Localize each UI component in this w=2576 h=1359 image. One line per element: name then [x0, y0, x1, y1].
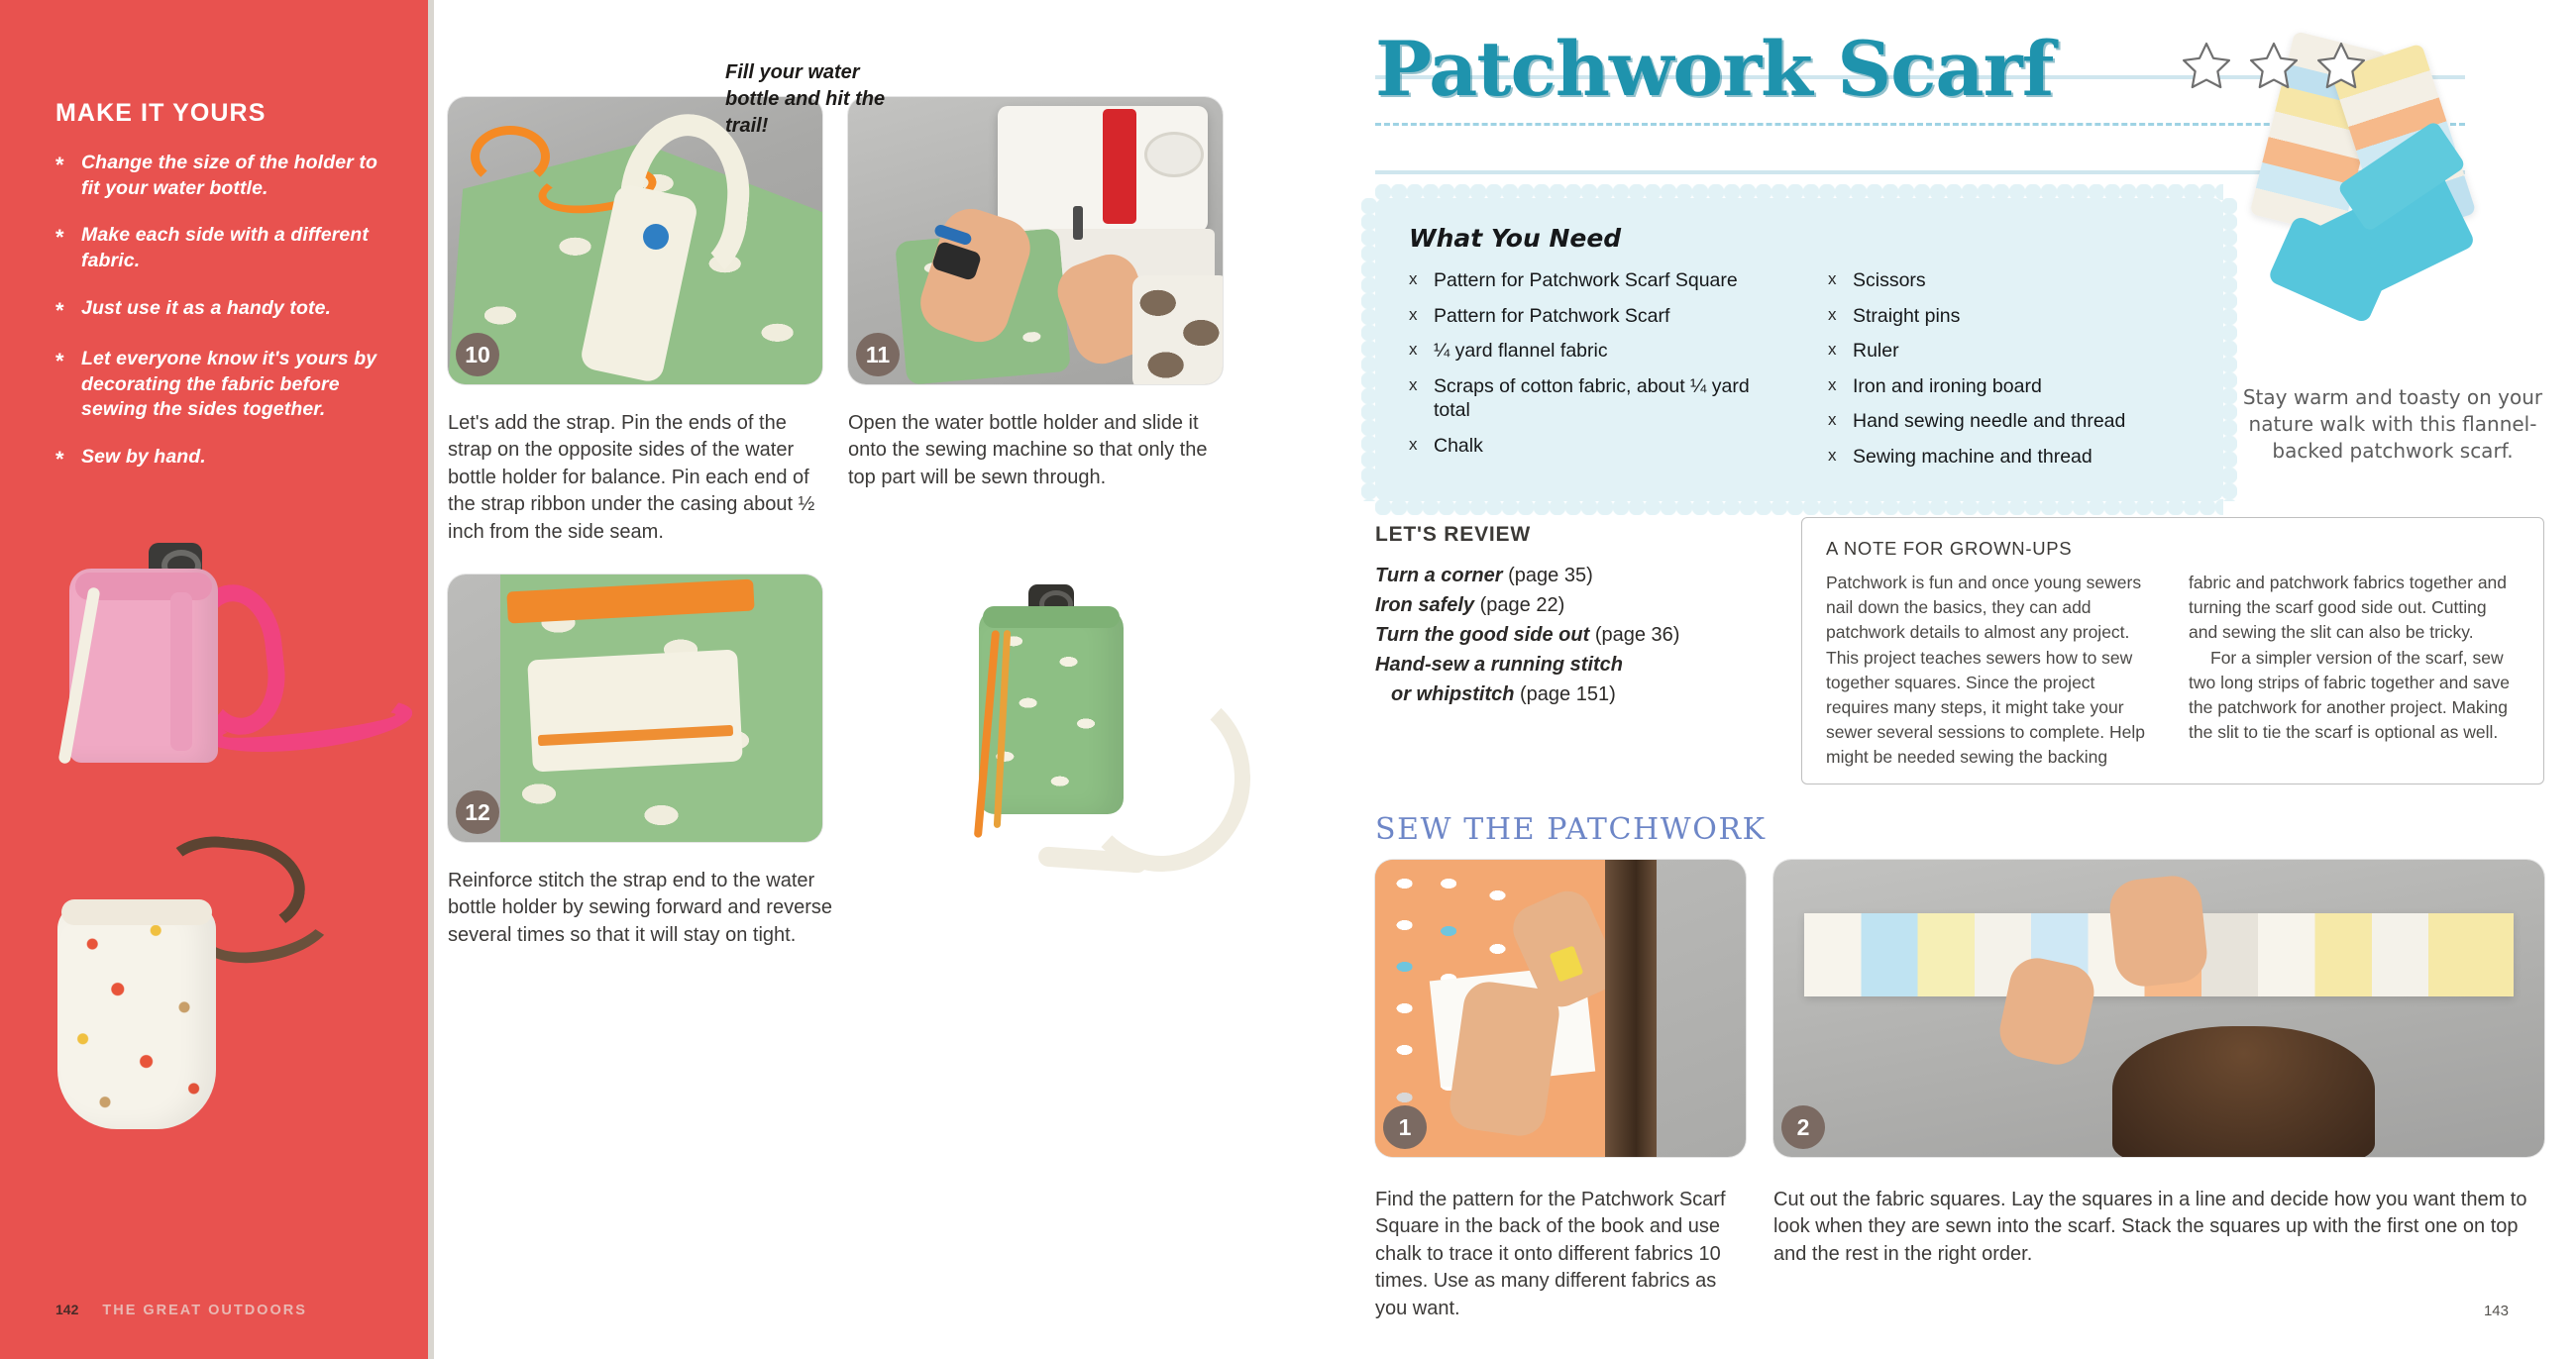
x-marker-icon: x: [1828, 409, 1840, 434]
supplies-column-left: x Pattern for Patchwork Scarf Square x P…: [1409, 268, 1771, 479]
review-item: Turn a corner (page 35): [1375, 561, 1771, 590]
left-page-content: 10 11 Let's add the strap. Pin the ends …: [448, 0, 1308, 1359]
step-badge: 1: [1383, 1105, 1427, 1149]
finished-bottle-holder-illustration: [943, 584, 1340, 981]
x-marker-icon: x: [1409, 339, 1421, 364]
asterisk-icon: *: [55, 445, 81, 473]
supply-label: Hand sewing needle and thread: [1853, 409, 2125, 434]
list-item-label: Change the size of the holder to fit you…: [81, 151, 382, 201]
difficulty-rating: [2178, 38, 2370, 95]
review-skill: Hand-sew a running stitch: [1375, 654, 1623, 676]
scarf-caption: Stay warm and toasty on your nature walk…: [2239, 384, 2546, 466]
lets-review-section: LET'S REVIEW Turn a corner (page 35) Iro…: [1375, 523, 1771, 709]
supply-item: x Scraps of cotton fabric, about ¼ yard …: [1409, 374, 1771, 423]
list-item-label: Sew by hand.: [81, 445, 206, 473]
patchwork-step-2-caption: Cut out the fabric squares. Lay the squa…: [1773, 1187, 2556, 1268]
page-number: 143: [2484, 1303, 2509, 1319]
grown-ups-paragraph: fabric and patchwork fabrics together an…: [2189, 571, 2520, 646]
supply-label: Pattern for Patchwork Scarf Square: [1434, 268, 1738, 293]
review-item: Turn the good side out (page 36): [1375, 620, 1771, 650]
scallop-edge-left: [1361, 198, 1377, 501]
section-name: THE GREAT OUTDOORS: [102, 1303, 307, 1318]
grown-ups-column-left: Patchwork is fun and once young sewers n…: [1826, 571, 2157, 771]
supply-label: Scraps of cotton fabric, about ¼ yard to…: [1434, 374, 1771, 423]
patchwork-step-1-caption: Find the pattern for the Patchwork Scarf…: [1375, 1187, 1752, 1322]
lets-review-heading: LET'S REVIEW: [1375, 523, 1771, 547]
sew-the-patchwork-heading: SEW THE PATCHWORK: [1375, 812, 1767, 847]
fill-your-bottle-note: Fill your water bottle and hit the trail…: [725, 59, 904, 139]
list-item: * Just use it as a handy tote.: [55, 296, 382, 325]
list-item-label: Make each side with a different fabric.: [81, 223, 382, 273]
review-page-ref: (page 36): [1595, 624, 1680, 646]
grown-ups-paragraph: For a simpler version of the scarf, sew …: [2189, 646, 2520, 746]
review-item: Hand-sew a running stitch or whipstitch …: [1375, 650, 1771, 709]
list-item-label: Just use it as a handy tote.: [81, 296, 331, 325]
review-page-ref: (page 151): [1520, 683, 1616, 705]
scallop-edge-bottom: [1375, 499, 2223, 515]
supply-item: x Hand sewing needle and thread: [1828, 409, 2190, 434]
page-number: 142: [55, 1302, 78, 1317]
list-item: * Let everyone know it's yours by decora…: [55, 347, 382, 423]
make-it-yours-list: * Change the size of the holder to fit y…: [55, 151, 382, 495]
panel-edge-divider: [428, 0, 434, 1359]
pink-bottle-holder-illustration: [52, 543, 309, 790]
left-page: MAKE IT YOURS * Change the size of the h…: [0, 0, 1308, 1359]
grown-ups-paragraph: Patchwork is fun and once young sewers n…: [1826, 571, 2157, 771]
supply-label: ¼ yard flannel fabric: [1434, 339, 1608, 364]
step-badge: 10: [456, 333, 499, 376]
x-marker-icon: x: [1828, 339, 1840, 364]
star-icon: [2178, 38, 2235, 95]
supply-item: x ¼ yard flannel fabric: [1409, 339, 1771, 364]
review-skill: Iron safely: [1375, 594, 1474, 616]
asterisk-icon: *: [55, 151, 81, 201]
book-spread: MAKE IT YOURS * Change the size of the h…: [0, 0, 2576, 1359]
asterisk-icon: *: [55, 347, 81, 423]
supply-label: Scissors: [1853, 268, 1926, 293]
supply-item: x Ruler: [1828, 339, 2190, 364]
step-badge: 2: [1781, 1105, 1825, 1149]
patchwork-step-2-photo: 2: [1773, 860, 2544, 1157]
right-page: Patchwork Scarf What You Need: [1308, 0, 2576, 1359]
review-skill: Turn the good side out: [1375, 624, 1589, 646]
supply-label: Ruler: [1853, 339, 1899, 364]
supply-label: Sewing machine and thread: [1853, 445, 2093, 470]
supply-item: x Straight pins: [1828, 304, 2190, 329]
what-you-need-box: What You Need x Pattern for Patchwork Sc…: [1375, 198, 2223, 501]
step-11-caption: Open the water bottle holder and slide i…: [848, 410, 1233, 491]
list-item: * Change the size of the holder to fit y…: [55, 151, 382, 201]
step-badge: 12: [456, 790, 499, 834]
list-item: * Sew by hand.: [55, 445, 382, 473]
star-icon: [2245, 38, 2303, 95]
make-it-yours-panel: MAKE IT YOURS * Change the size of the h…: [0, 0, 428, 1359]
x-marker-icon: x: [1828, 268, 1840, 293]
supply-label: Straight pins: [1853, 304, 1960, 329]
monkey-fabric-bag: [57, 903, 216, 1129]
note-for-grown-ups-box: A NOTE FOR GROWN-UPS Patchwork is fun an…: [1801, 517, 2544, 784]
review-page-ref: (page 22): [1480, 594, 1565, 616]
asterisk-icon: *: [55, 296, 81, 325]
step-12-photo: 12: [448, 575, 822, 842]
x-marker-icon: x: [1409, 268, 1421, 293]
step-10-photo: 10: [448, 97, 822, 384]
scallop-edge-top: [1375, 184, 2223, 200]
supply-label: Chalk: [1434, 434, 1483, 459]
x-marker-icon: x: [1409, 304, 1421, 329]
review-page-ref: (page 35): [1508, 565, 1593, 586]
pink-ruffle-trim: [170, 592, 192, 751]
patchwork-step-1-photo: 1: [1375, 860, 1746, 1157]
list-item: * Make each side with a different fabric…: [55, 223, 382, 273]
scallop-edge-right: [2221, 198, 2237, 501]
review-skill: Turn a corner: [1375, 565, 1503, 586]
asterisk-icon: *: [55, 223, 81, 273]
x-marker-icon: x: [1828, 374, 1840, 399]
supply-item: x Iron and ironing board: [1828, 374, 2190, 399]
x-marker-icon: x: [1828, 304, 1840, 329]
step-10-caption: Let's add the strap. Pin the ends of the…: [448, 410, 832, 546]
grown-ups-column-right: fabric and patchwork fabrics together an…: [2189, 571, 2520, 771]
step-badge: 11: [856, 333, 900, 376]
supply-item: x Pattern for Patchwork Scarf: [1409, 304, 1771, 329]
step-12-caption: Reinforce stitch the strap end to the wa…: [448, 868, 832, 949]
supply-label: Iron and ironing board: [1853, 374, 2042, 399]
what-you-need-heading: What You Need: [1409, 224, 2190, 253]
supply-label: Pattern for Patchwork Scarf: [1434, 304, 1669, 329]
page-title: Patchwork Scarf: [1375, 32, 2053, 107]
step-11-photo: 11: [848, 97, 1223, 384]
make-it-yours-title: MAKE IT YOURS: [55, 99, 382, 128]
review-item: Iron safely (page 22): [1375, 590, 1771, 620]
supply-item: x Pattern for Patchwork Scarf Square: [1409, 268, 1771, 293]
left-footer: 142 THE GREAT OUTDOORS: [55, 1302, 307, 1318]
white-bottle-holder-illustration: [48, 832, 355, 1129]
bag-casing: [61, 899, 212, 925]
review-skill-continuation: or whipstitch: [1391, 683, 1514, 705]
supply-item: x Sewing machine and thread: [1828, 445, 2190, 470]
supply-item: x Scissors: [1828, 268, 2190, 293]
x-marker-icon: x: [1828, 445, 1840, 470]
x-marker-icon: x: [1409, 374, 1421, 423]
star-icon: [2312, 38, 2370, 95]
x-marker-icon: x: [1409, 434, 1421, 459]
list-item-label: Let everyone know it's yours by decorati…: [81, 347, 382, 423]
supplies-column-right: x Scissors x Straight pins x Ruler x: [1828, 268, 2190, 479]
bag-casing: [983, 606, 1120, 628]
supply-item: x Chalk: [1409, 434, 1771, 459]
grown-ups-heading: A NOTE FOR GROWN-UPS: [1826, 538, 2520, 560]
